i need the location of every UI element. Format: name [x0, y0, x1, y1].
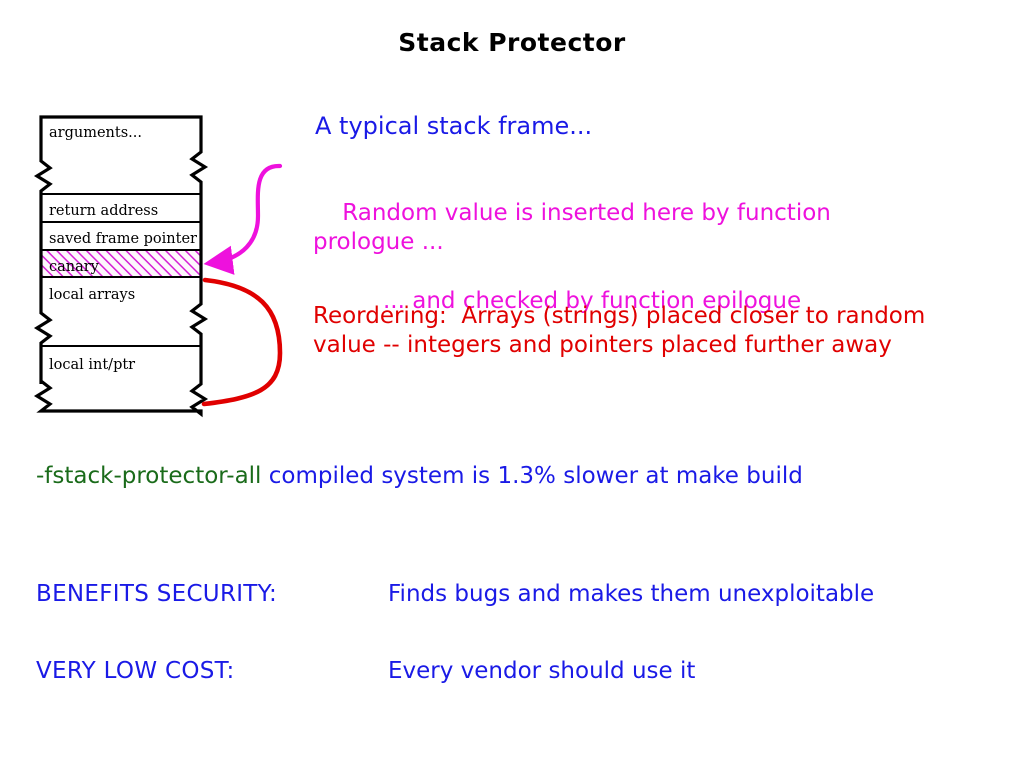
- benefit-label-cost: VERY LOW COST:: [36, 658, 388, 684]
- callout-typical-stack-frame: A typical stack frame...: [315, 111, 592, 141]
- benefit-row: VERY LOW COST:Every vendor should use it: [36, 658, 996, 684]
- slide-canvas: Stack Protector: [0, 0, 1024, 768]
- stack-frame-diagram: arguments... return address saved frame …: [22, 108, 292, 420]
- compiler-flag-label: -fstack-protector-all: [36, 463, 261, 489]
- callout-random-value-line1: Random value is inserted here by functio…: [313, 200, 838, 255]
- benefit-value-cost: Every vendor should use it: [388, 658, 695, 684]
- stack-cell-label-arguments: arguments...: [49, 125, 142, 141]
- reordering-brace: [204, 280, 280, 404]
- canary-pointer-arrow: [211, 166, 280, 263]
- stack-cell-label-local-arrays: local arrays: [49, 287, 135, 303]
- performance-detail-label: compiled system is 1.3% slower at make b…: [261, 463, 802, 489]
- stack-cell-label-local-int-ptr: local int/ptr: [49, 357, 135, 373]
- stack-cell-label-return-address: return address: [49, 203, 158, 219]
- benefit-row: BENEFITS SECURITY:Finds bugs and makes t…: [36, 581, 996, 607]
- callout-reordering: Reordering: Arrays (strings) placed clos…: [313, 302, 928, 360]
- benefit-label-security: BENEFITS SECURITY:: [36, 581, 388, 607]
- stack-cell-label-canary: canary: [49, 259, 100, 275]
- benefit-value-security: Finds bugs and makes them unexploitable: [388, 581, 874, 607]
- performance-statement: -fstack-protector-all compiled system is…: [36, 463, 803, 489]
- page-title: Stack Protector: [0, 28, 1024, 57]
- stack-cell-label-saved-frame-pointer: saved frame pointer: [49, 231, 197, 247]
